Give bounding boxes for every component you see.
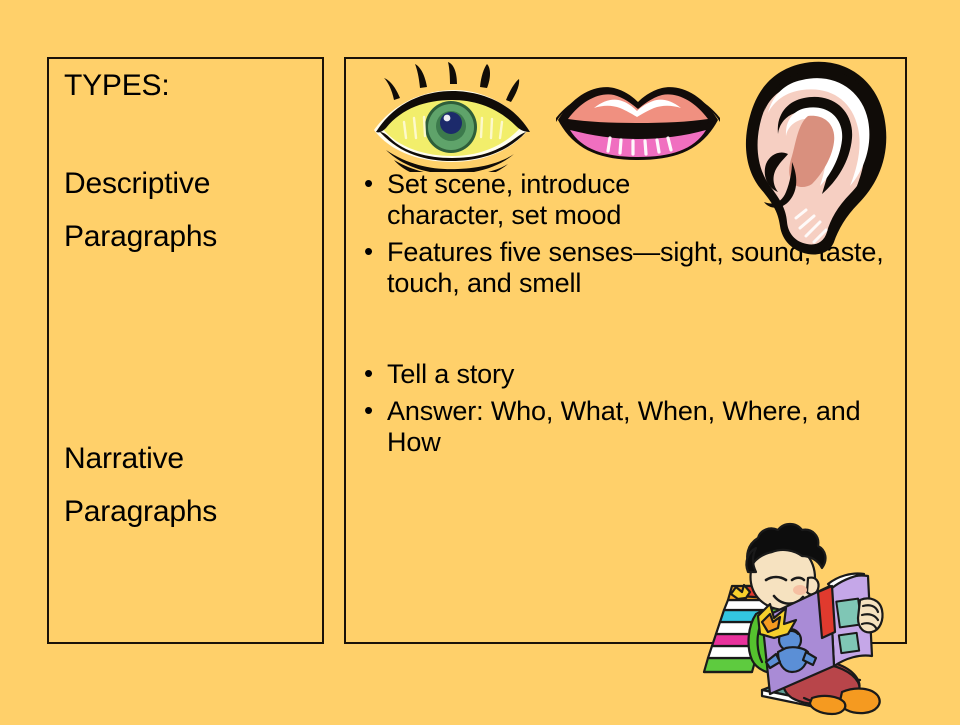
ear-icon xyxy=(742,58,900,256)
lips-icon xyxy=(548,78,728,164)
boy-reading-icon xyxy=(700,522,945,720)
left-entry-descriptive-1: Descriptive xyxy=(64,169,210,199)
left-entry-descriptive-2: Paragraphs xyxy=(64,222,217,252)
bullet-item: Set scene, introduce character, set mood xyxy=(360,169,687,232)
bullet-item: Tell a story xyxy=(360,359,900,390)
left-entry-narrative-2: Paragraphs xyxy=(64,497,217,527)
left-entry-narrative-1: Narrative xyxy=(64,444,184,474)
eye-icon xyxy=(362,62,537,172)
left-panel-heading: TYPES: xyxy=(64,71,170,101)
slide-canvas: TYPES: Descriptive Paragraphs Narrative … xyxy=(0,0,960,720)
bullet-item: Answer: Who, What, When, Where, and How xyxy=(360,396,900,459)
left-panel: TYPES: Descriptive Paragraphs Narrative … xyxy=(47,57,324,644)
